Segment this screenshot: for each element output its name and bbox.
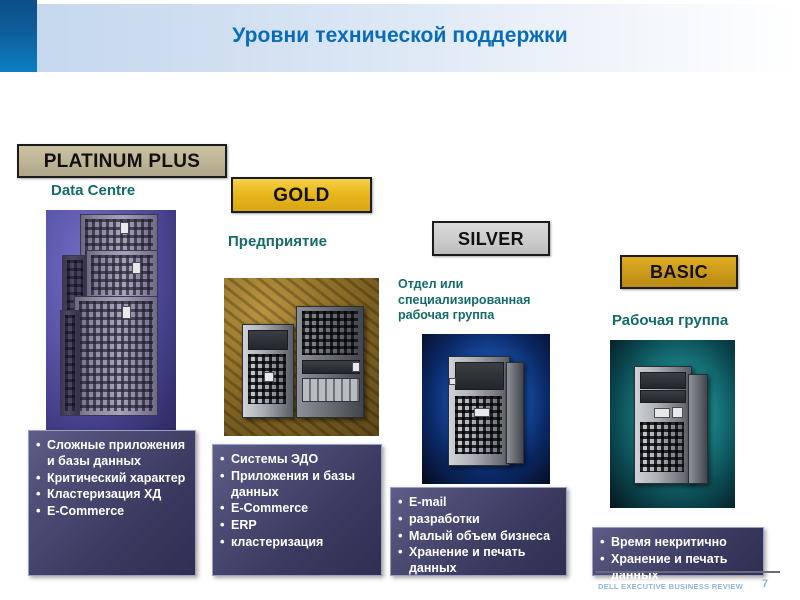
tier-caption-platinum-plus: Data Centre bbox=[51, 182, 231, 200]
department-tower-server-photo bbox=[422, 334, 550, 484]
list-item: E-mail bbox=[398, 495, 558, 511]
page-number: 7 bbox=[762, 578, 768, 590]
list-item: кластеризация bbox=[220, 535, 373, 551]
tier-bullets-basic: Время некритично Хранение и печать данны… bbox=[592, 527, 764, 576]
list-item: разработки bbox=[398, 512, 558, 528]
list-item: Критический характер bbox=[36, 471, 187, 487]
footer-brand: DELL EXECUTIVE BUSINESS REVIEW bbox=[598, 582, 743, 591]
tier-bullets-silver: E-mail разработки Малый объем бизнеса Хр… bbox=[390, 487, 567, 576]
tier-bullets-gold: Системы ЭДО Приложения и базы данных E-C… bbox=[212, 444, 382, 576]
tier-badge-basic[interactable]: BASIC bbox=[620, 255, 738, 289]
bullet-list: Сложные приложения и базы данных Критиче… bbox=[36, 438, 187, 520]
tier-badge-gold[interactable]: GOLD bbox=[231, 177, 372, 213]
tier-caption-basic: Рабочая группа bbox=[612, 312, 792, 330]
footer-divider bbox=[596, 571, 780, 573]
list-item: E-Commerce bbox=[220, 501, 373, 517]
page-title: Уровни технической поддержки bbox=[0, 24, 800, 48]
tier-badge-platinum-plus[interactable]: PLATINUM PLUS bbox=[17, 144, 227, 178]
tier-badge-silver[interactable]: SILVER bbox=[432, 221, 550, 256]
bullet-list: Время некритично Хранение и печать данны… bbox=[600, 535, 755, 583]
list-item: Сложные приложения и базы данных bbox=[36, 438, 187, 470]
workgroup-tower-server-photo bbox=[610, 340, 735, 508]
list-item: Время некритично bbox=[600, 535, 755, 551]
bullet-list: E-mail разработки Малый объем бизнеса Хр… bbox=[398, 495, 558, 577]
list-item: Хранение и печать данных bbox=[398, 545, 558, 577]
tier-caption-gold: Предприятие bbox=[228, 233, 408, 251]
list-item: Малый объем бизнеса bbox=[398, 529, 558, 545]
tier-caption-silver: Отдел или специализированная рабочая гру… bbox=[398, 277, 578, 324]
list-item: Хранение и печать данных bbox=[600, 552, 755, 584]
list-item: Кластеризация ХД bbox=[36, 487, 187, 503]
list-item: Приложения и базы данных bbox=[220, 469, 373, 501]
list-item: ERP bbox=[220, 518, 373, 534]
list-item: Системы ЭДО bbox=[220, 452, 373, 468]
data-centre-server-racks-photo bbox=[46, 210, 176, 432]
list-item: E-Commerce bbox=[36, 504, 187, 520]
tier-bullets-platinum-plus: Сложные приложения и базы данных Критиче… bbox=[28, 430, 196, 576]
bullet-list: Системы ЭДО Приложения и базы данных E-C… bbox=[220, 452, 373, 551]
enterprise-servers-photo bbox=[224, 278, 379, 436]
